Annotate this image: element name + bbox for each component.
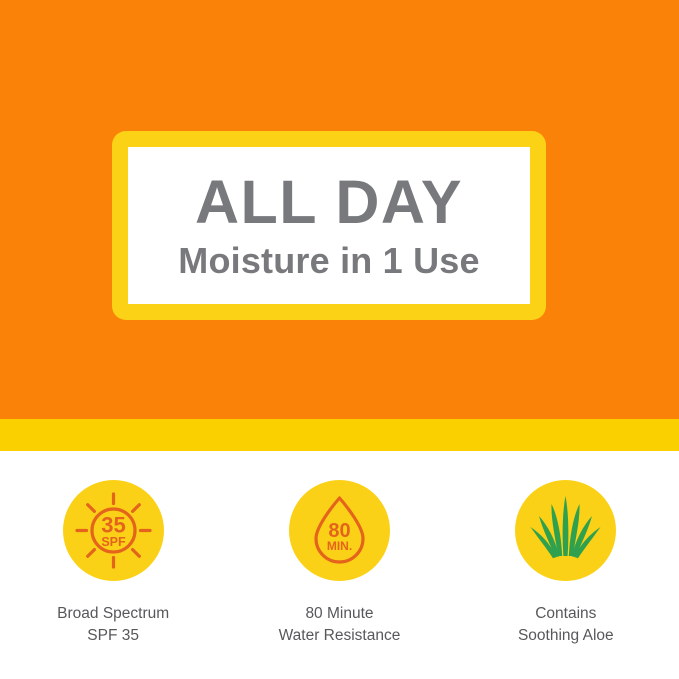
caption-line-2: Water Resistance <box>279 625 401 647</box>
product-feature-banner: ALL DAY Moisture in 1 Use <box>0 0 679 679</box>
badge-circle-spf: 35 SPF <box>63 480 164 581</box>
badge-circle-water: 80 MIN. <box>289 480 390 581</box>
minutes-unit: MIN. <box>327 539 352 553</box>
caption-line-1: Broad Spectrum <box>57 603 169 625</box>
water-drop-icon: 80 MIN. <box>289 480 390 581</box>
yellow-divider-band <box>0 419 679 451</box>
caption-line-1: Contains <box>518 603 614 625</box>
feature-caption-soothing-aloe: Contains Soothing Aloe <box>518 603 614 648</box>
sun-spf-icon: 35 SPF <box>63 480 164 581</box>
feature-list: 35 SPF Broad Spectrum SPF 35 80 MIN. 80 … <box>0 480 679 648</box>
feature-soothing-aloe: Contains Soothing Aloe <box>466 480 666 648</box>
spf-value: 35 <box>101 513 125 538</box>
feature-broad-spectrum: 35 SPF Broad Spectrum SPF 35 <box>13 480 213 648</box>
caption-line-1: 80 Minute <box>279 603 401 625</box>
caption-line-2: Soothing Aloe <box>518 625 614 647</box>
badge-circle-aloe <box>515 480 616 581</box>
headline-plaque: ALL DAY Moisture in 1 Use <box>112 131 546 320</box>
caption-line-2: SPF 35 <box>57 625 169 647</box>
feature-caption-water-resistance: 80 Minute Water Resistance <box>279 603 401 648</box>
feature-caption-broad-spectrum: Broad Spectrum SPF 35 <box>57 603 169 648</box>
headline-plaque-inner: ALL DAY Moisture in 1 Use <box>128 147 530 304</box>
aloe-plant-icon <box>515 480 616 581</box>
feature-water-resistance: 80 MIN. 80 Minute Water Resistance <box>239 480 439 648</box>
headline-primary: ALL DAY <box>195 171 463 233</box>
headline-secondary: Moisture in 1 Use <box>178 241 479 281</box>
spf-unit: SPF <box>101 535 126 549</box>
